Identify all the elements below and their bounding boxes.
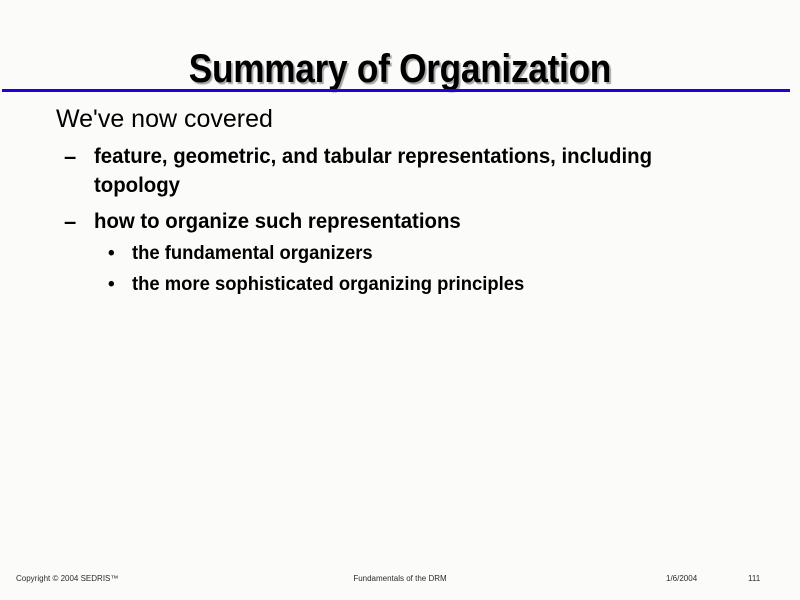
list-item-label: how to organize such representations [94,207,686,236]
footer-date: 1/6/2004 [666,572,697,586]
dash-bullet-icon: – [64,142,94,171]
page-title: Summary of Organization [189,45,611,93]
dash-bullet-icon: – [64,207,94,236]
slide-canvas: Summary of Organization We've now covere… [0,0,800,600]
title-divider-rule [2,89,790,92]
round-bullet-icon: • [108,240,132,267]
list-item: • the fundamental organizers [0,240,800,267]
list-item-label: feature, geometric, and tabular represen… [94,142,686,200]
list-item: • the more sophisticated organizing prin… [0,271,800,298]
footer-page-number: 111 [748,572,760,586]
bullet-lead-text: We've now covered [0,104,800,135]
list-item: – how to organize such representations [0,207,800,236]
list-item-label: the fundamental organizers [132,240,780,267]
list-item-label: the more sophisticated organizing princi… [132,271,780,298]
slide-footer: Copyright © 2004 SEDRIS™ Fundamentals of… [0,572,800,586]
slide-body: We've now covered – feature, geometric, … [0,104,800,298]
list-item: – feature, geometric, and tabular repres… [0,142,800,200]
round-bullet-icon: • [108,271,132,298]
